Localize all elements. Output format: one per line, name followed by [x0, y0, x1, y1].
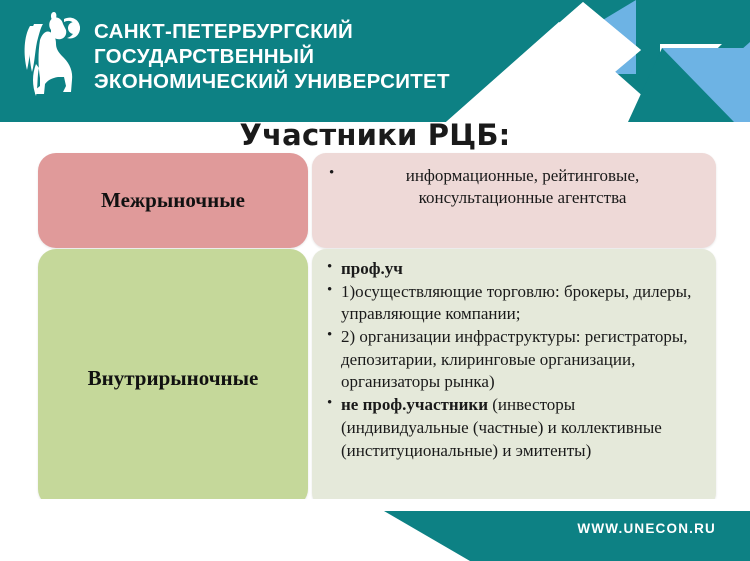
list-item: проф.уч — [324, 258, 706, 281]
university-name-line2: ГОСУДАРСТВЕННЫЙ — [94, 44, 450, 69]
row-intramarket: Внутрирыночные проф.уч 1)осуществляющие … — [38, 249, 716, 507]
list-item: не проф.участники (инвесторы (индивидуал… — [324, 394, 706, 462]
university-logo: САНКТ-ПЕТЕРБУРГСКИЙ ГОСУДАРСТВЕННЫЙ ЭКОН… — [18, 10, 450, 102]
list-item: информационные, рейтинговые, консультаци… — [326, 165, 702, 209]
intermarket-bullet-list: информационные, рейтинговые, консультаци… — [326, 165, 702, 209]
griffin-emblem-icon — [18, 10, 82, 102]
row-intermarket: Межрыночные информационные, рейтинговые,… — [38, 153, 716, 248]
category-label-intramarket: Внутрирыночные — [38, 249, 308, 507]
category-label-intermarket: Межрыночные — [38, 153, 308, 248]
slide-title: Участники РЦБ: — [0, 118, 750, 152]
category-content-intramarket: проф.уч 1)осуществляющие торговлю: броке… — [312, 249, 716, 507]
list-item: 2) организации инфраструктуры: регистрат… — [324, 326, 706, 394]
slide-footer: WWW.UNECON.RU — [0, 499, 750, 561]
category-content-intermarket: информационные, рейтинговые, консультаци… — [312, 153, 716, 248]
slide-canvas: САНКТ-ПЕТЕРБУРГСКИЙ ГОСУДАРСТВЕННЫЙ ЭКОН… — [0, 0, 750, 561]
list-item: 1)осуществляющие торговлю: брокеры, диле… — [324, 281, 706, 326]
university-name-line3: ЭКОНОМИЧЕСКИЙ УНИВЕРСИТЕТ — [94, 69, 450, 94]
footer-website-url: WWW.UNECON.RU — [577, 521, 716, 536]
list-item-bold: не проф.участники — [341, 395, 488, 414]
intramarket-bullet-list: проф.уч 1)осуществляющие торговлю: броке… — [324, 258, 706, 462]
university-name: САНКТ-ПЕТЕРБУРГСКИЙ ГОСУДАРСТВЕННЫЙ ЭКОН… — [94, 19, 450, 94]
university-name-line1: САНКТ-ПЕТЕРБУРГСКИЙ — [94, 19, 450, 44]
list-item-bold: проф.уч — [341, 259, 403, 278]
slide-header: САНКТ-ПЕТЕРБУРГСКИЙ ГОСУДАРСТВЕННЫЙ ЭКОН… — [0, 0, 750, 122]
